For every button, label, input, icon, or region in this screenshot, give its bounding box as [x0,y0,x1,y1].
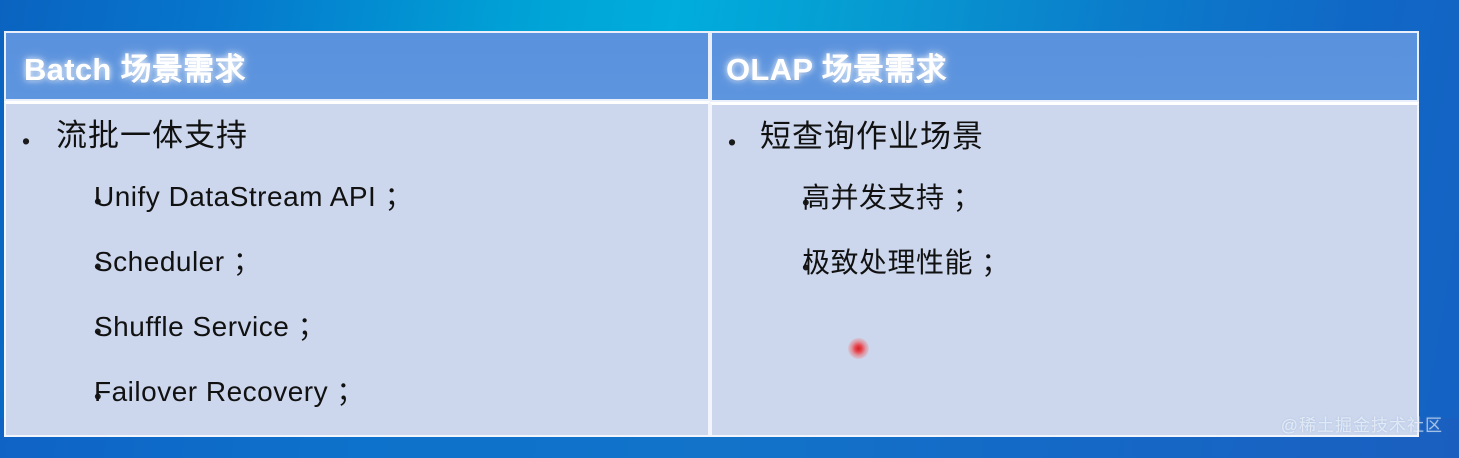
list-item-label: 流批一体支持 [56,116,248,156]
list-item: • Scheduler ； [6,243,708,308]
slide-canvas: Batch 场景需求 • 流批一体支持 • Unify DataStream A… [0,0,1459,458]
column-header-batch-title: Batch 场景需求 [24,44,246,89]
list-item: • 极致处理性能 ； [712,244,1417,309]
list-item-label: 高并发支持 ； [802,179,981,217]
list-item-label: 极致处理性能 ； [802,244,1010,282]
list-item: • Unify DataStream API ； [6,178,708,243]
list-item: • Shuffle Service ； [6,308,708,373]
list-item-label: Scheduler ； [94,243,261,281]
bullet-dot-icon: • [712,244,802,279]
list-item-label: Shuffle Service ； [94,308,326,346]
column-header-olap-title: OLAP 场景需求 [726,44,947,89]
list-item: • 高并发支持 ； [712,179,1417,244]
column-body-olap: • 短查询作业场景 • 高并发支持 ； • 极致处理性能 ； [710,102,1419,437]
column-body-batch: • 流批一体支持 • Unify DataStream API ； • Sche… [4,101,710,437]
column-header-olap: OLAP 场景需求 [710,31,1419,102]
column-olap: OLAP 场景需求 • 短查询作业场景 • 高并发支持 ； • 极致处理性能 ； [710,31,1419,437]
column-batch: Batch 场景需求 • 流批一体支持 • Unify DataStream A… [4,31,710,437]
bullet-dot-icon: • [6,116,56,153]
list-item-label: Unify DataStream API ； [94,178,413,216]
list-item-label: Failover Recovery ； [94,373,365,411]
comparison-table: Batch 场景需求 • 流批一体支持 • Unify DataStream A… [4,31,1419,437]
bullet-dot-icon: • [712,179,802,214]
bullet-dot-icon: • [6,373,94,408]
bullet-dot-icon: • [6,243,94,278]
list-item: • 短查询作业场景 [712,117,1417,179]
bullet-dot-icon: • [712,117,760,154]
column-header-batch: Batch 场景需求 [4,31,710,101]
list-item: • 流批一体支持 [6,116,708,178]
list-item-label: 短查询作业场景 [760,117,984,157]
bullet-dot-icon: • [6,308,94,343]
list-item: • Failover Recovery ； [6,373,708,437]
bullet-dot-icon: • [6,178,94,213]
